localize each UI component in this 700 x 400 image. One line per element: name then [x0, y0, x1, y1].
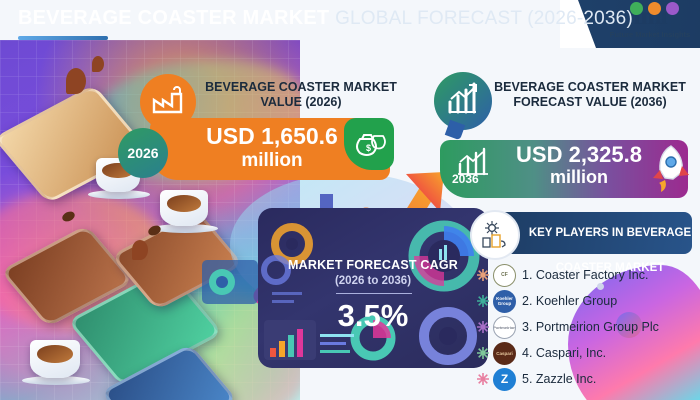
- cagr-panel: MARKET FORECAST CAGR (2026 to 2036) 3.5%: [258, 208, 488, 368]
- header-underline: [18, 36, 108, 40]
- market-value-unit: million: [178, 150, 366, 172]
- fmi-logo[interactable]: fmi Future Market Insights: [604, 4, 696, 48]
- page-title-bold: BEVERAGE COASTER MARKET: [18, 7, 329, 29]
- forecast-title-line1: BEVERAGE COASTER MARKET: [492, 80, 688, 95]
- list-item[interactable]: Caspari 4. Caspari, Inc.: [476, 340, 696, 366]
- list-item[interactable]: CF 1. Coaster Factory Inc.: [476, 262, 696, 288]
- company-name: 1. Coaster Factory Inc.: [522, 268, 648, 282]
- cagr-label: MARKET FORECAST CAGR: [258, 258, 488, 272]
- logo-dot-orange-icon: [648, 2, 661, 15]
- coffee-splash-1: [66, 68, 86, 94]
- market-value-title-line1: BEVERAGE COASTER MARKET: [196, 80, 406, 95]
- key-players-list: CF 1. Coaster Factory Inc. KoehlerGroup …: [476, 262, 696, 392]
- logo-dot-green-icon: [630, 2, 643, 15]
- header-title-group: BEVERAGE COASTER MARKET GLOBAL FORECAST …: [18, 7, 633, 30]
- network-idea-icon: [479, 219, 511, 251]
- money-bag-icon: $: [351, 127, 387, 161]
- coffee-splash-2: [92, 56, 104, 72]
- year-badge-2026: 2026: [118, 128, 168, 178]
- page-title-subtitle: GLOBAL FORECAST (2026-2036): [335, 8, 633, 29]
- list-item[interactable]: KoehlerGroup 2. Koehler Group: [476, 288, 696, 314]
- starburst-icon: [476, 268, 490, 282]
- starburst-icon: [476, 320, 490, 334]
- company-logo-badge: Z: [493, 368, 516, 391]
- company-name: 3. Portmeirion Group Plc: [522, 320, 659, 334]
- cagr-value: 3.5%: [258, 298, 488, 334]
- company-name: 2. Koehler Group: [522, 294, 617, 308]
- forecast-title-line2: FORECAST VALUE (2036): [492, 95, 688, 110]
- company-logo-badge: Portmeirion: [493, 316, 516, 339]
- rocket-icon: [646, 142, 692, 194]
- starburst-icon: [476, 346, 490, 360]
- company-name: 4. Caspari, Inc.: [522, 346, 606, 360]
- bar-chart-up-icon: [434, 72, 492, 130]
- list-item[interactable]: Z 5. Zazzle Inc.: [476, 366, 696, 392]
- forecast-value-unit: million: [502, 167, 656, 188]
- key-players-header: KEY PLAYERS IN BEVERAGE COASTER MARKET: [470, 212, 692, 256]
- coffee-splash-3: [132, 240, 148, 260]
- cagr-period: (2026 to 2036): [258, 275, 488, 287]
- logo-dots-group: [630, 2, 692, 16]
- svg-text:$: $: [366, 143, 371, 153]
- market-value-amount: USD 1,650.6: [178, 124, 366, 149]
- cagr-divider: [336, 293, 412, 294]
- starburst-icon: [476, 372, 490, 386]
- company-logo-badge: KoehlerGroup: [493, 290, 516, 313]
- network-idea-icon-badge: [470, 210, 520, 260]
- forecast-value-title: BEVERAGE COASTER MARKET FORECAST VALUE (…: [492, 80, 688, 110]
- key-players-band: KEY PLAYERS IN BEVERAGE COASTER MARKET: [492, 212, 692, 254]
- market-value-title: BEVERAGE COASTER MARKET VALUE (2026): [196, 80, 406, 110]
- chart-icon-bubble: [434, 72, 492, 130]
- infographic-canvas: BEVERAGE COASTER MARKET GLOBAL FORECAST …: [0, 0, 700, 400]
- key-players-heading-line1: KEY PLAYERS IN BEVERAGE: [510, 219, 692, 240]
- list-item[interactable]: Portmeirion 3. Portmeirion Group Plc: [476, 314, 696, 340]
- cagr-decoration: [258, 208, 488, 368]
- market-value-title-line2: VALUE (2026): [196, 95, 406, 110]
- logo-dot-purple-icon: [666, 2, 679, 15]
- company-name: 5. Zazzle Inc.: [522, 372, 596, 386]
- forecast-value-amount: USD 2,325.8: [502, 143, 656, 167]
- company-logo-badge: Caspari: [493, 342, 516, 365]
- starburst-icon: [476, 294, 490, 308]
- logo-tagline: Future Market Insights: [604, 30, 696, 39]
- coffee-cup-2: [30, 340, 80, 378]
- year-badge-2036: 2036: [452, 172, 479, 186]
- company-logo-badge: CF: [493, 264, 516, 287]
